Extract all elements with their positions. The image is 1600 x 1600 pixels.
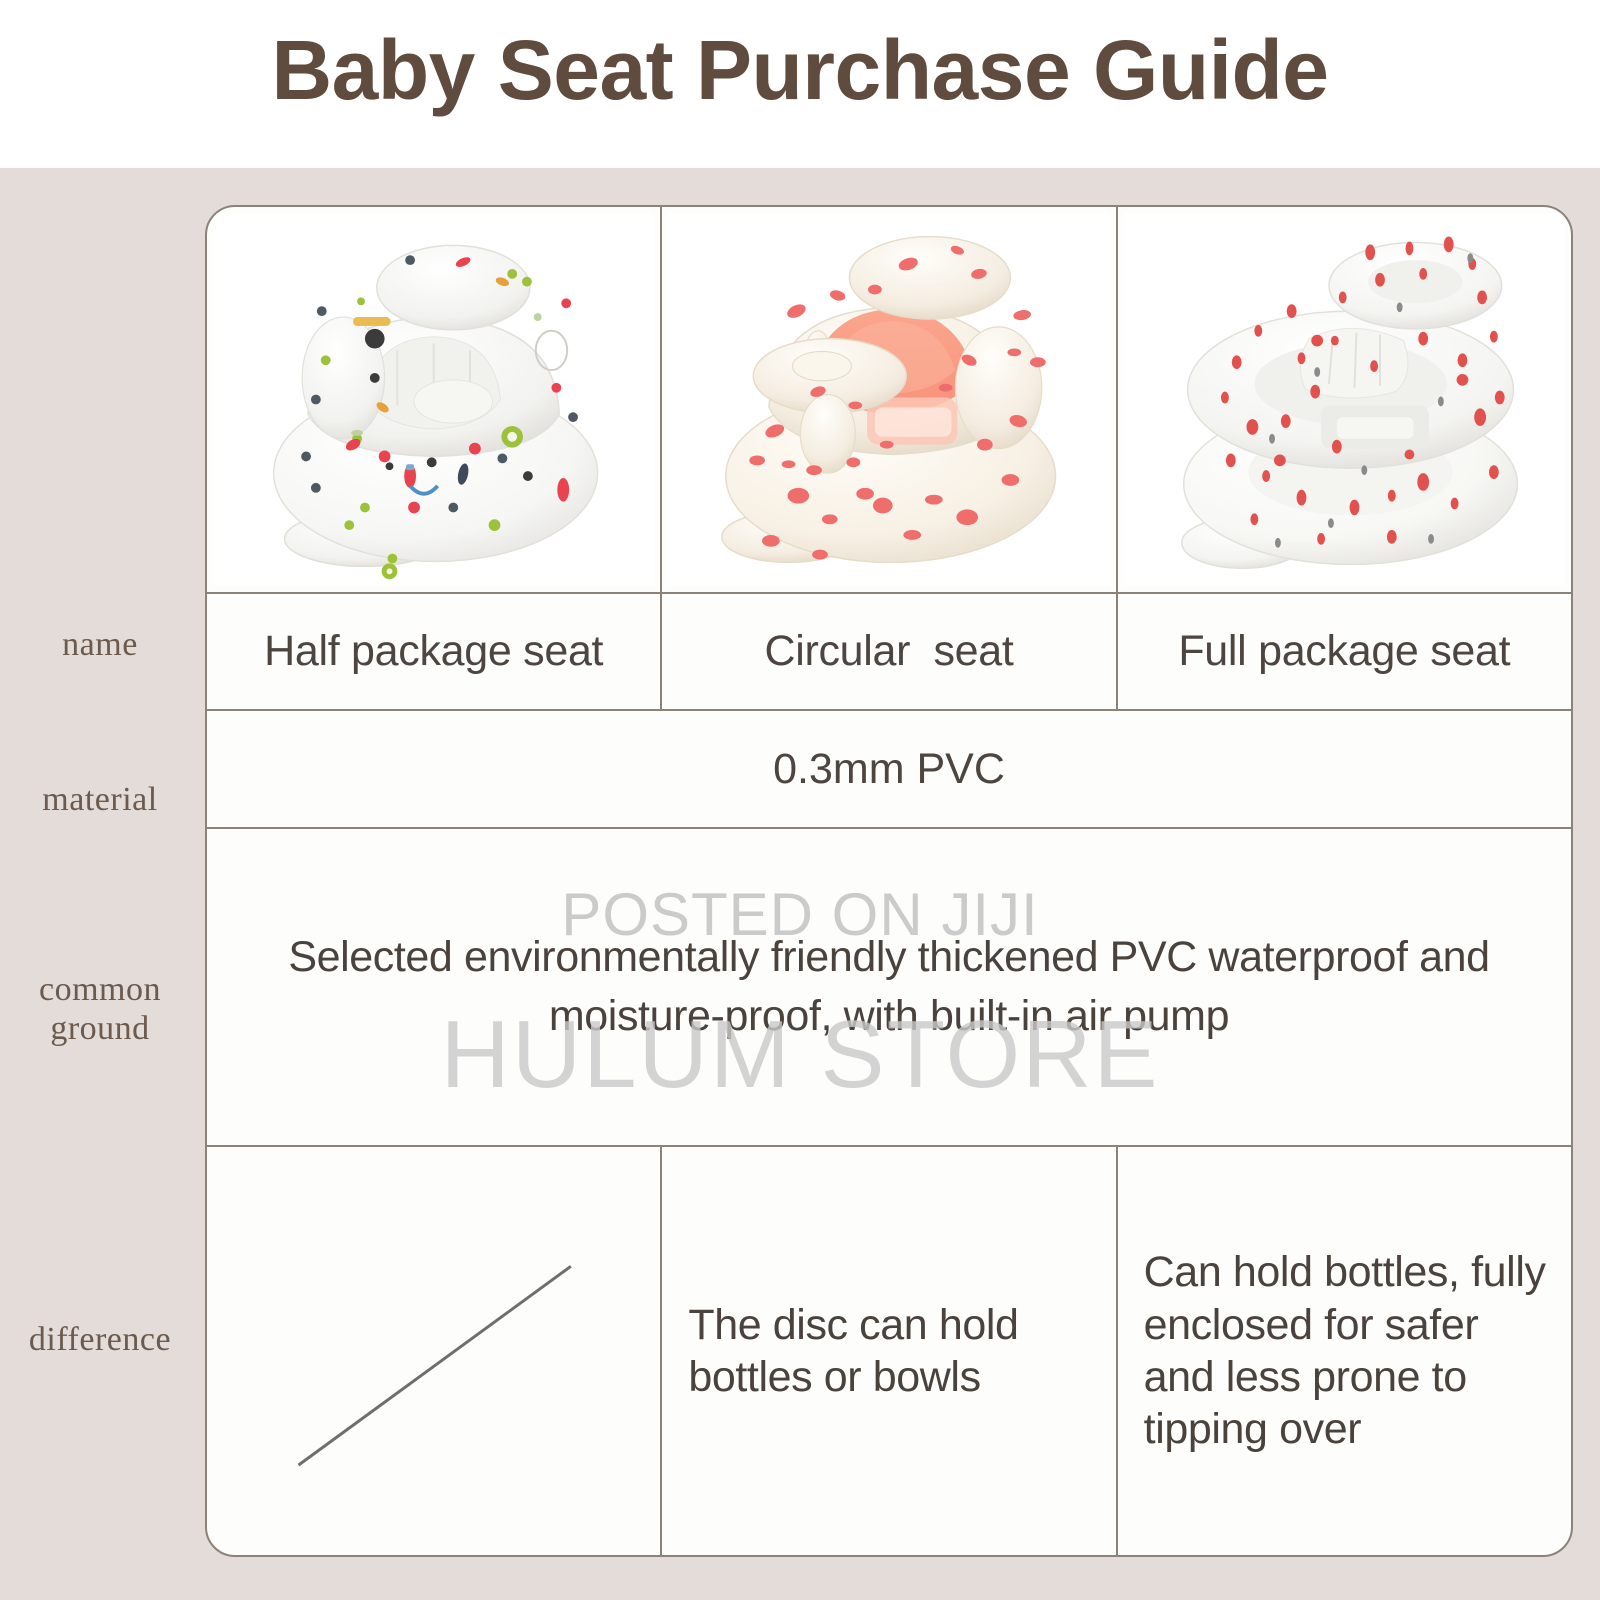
cell-material-value: 0.3mm PVC — [207, 711, 1571, 827]
circular-seat-photo — [668, 213, 1109, 586]
cell-difference-half-package-seat — [207, 1147, 660, 1555]
table-row-material: 0.3mm PVC — [207, 709, 1571, 827]
material-value: 0.3mm PVC — [773, 745, 1005, 794]
cell-name-full-package-seat: Full package seat — [1116, 594, 1571, 709]
table-row-names: Half package seat Circular seat Full pac… — [207, 592, 1571, 709]
page-title: Baby Seat Purchase Guide — [0, 26, 1600, 114]
half-package-seat-photo — [213, 213, 654, 586]
table-row-difference: The disc can hold bottles or bowls Can h… — [207, 1145, 1571, 1555]
difference-value-3: Can hold bottles, fully enclosed for saf… — [1118, 1246, 1571, 1456]
cell-name-circular-seat: Circular seat — [660, 594, 1115, 709]
row-label-name: name — [0, 625, 200, 664]
product-name-1: Half package seat — [264, 627, 603, 676]
cell-image-full-package-seat — [1116, 207, 1571, 592]
common-ground-value: Selected environmentally friendly thicke… — [207, 928, 1571, 1047]
table-row-common-ground: Selected environmentally friendly thicke… — [207, 827, 1571, 1145]
row-label-material: material — [0, 780, 200, 819]
product-name-3: Full package seat — [1178, 627, 1510, 676]
cell-image-circular-seat — [660, 207, 1115, 592]
cell-image-half-package-seat — [207, 207, 660, 592]
comparison-table: Half package seat Circular seat Full pac… — [205, 205, 1573, 1557]
product-name-2: Circular seat — [764, 627, 1013, 676]
cell-difference-full-package-seat: Can hold bottles, fully enclosed for saf… — [1116, 1147, 1571, 1555]
diagonal-slash-icon — [207, 1147, 660, 1551]
cell-name-half-package-seat: Half package seat — [207, 594, 660, 709]
row-label-common-ground-line1: common — [0, 970, 200, 1009]
cell-difference-circular-seat: The disc can hold bottles or bowls — [660, 1147, 1115, 1555]
row-label-common-ground: common ground — [0, 970, 200, 1048]
full-package-seat-photo — [1124, 213, 1565, 586]
cell-common-ground-value: Selected environmentally friendly thicke… — [207, 829, 1571, 1145]
row-label-difference: difference — [0, 1320, 200, 1359]
baby-seat-purchase-guide-infographic: Baby Seat Purchase Guide name material c… — [0, 0, 1600, 1600]
difference-value-2: The disc can hold bottles or bowls — [662, 1299, 1115, 1404]
table-row-images — [207, 207, 1571, 592]
row-label-common-ground-line2: ground — [0, 1009, 200, 1048]
